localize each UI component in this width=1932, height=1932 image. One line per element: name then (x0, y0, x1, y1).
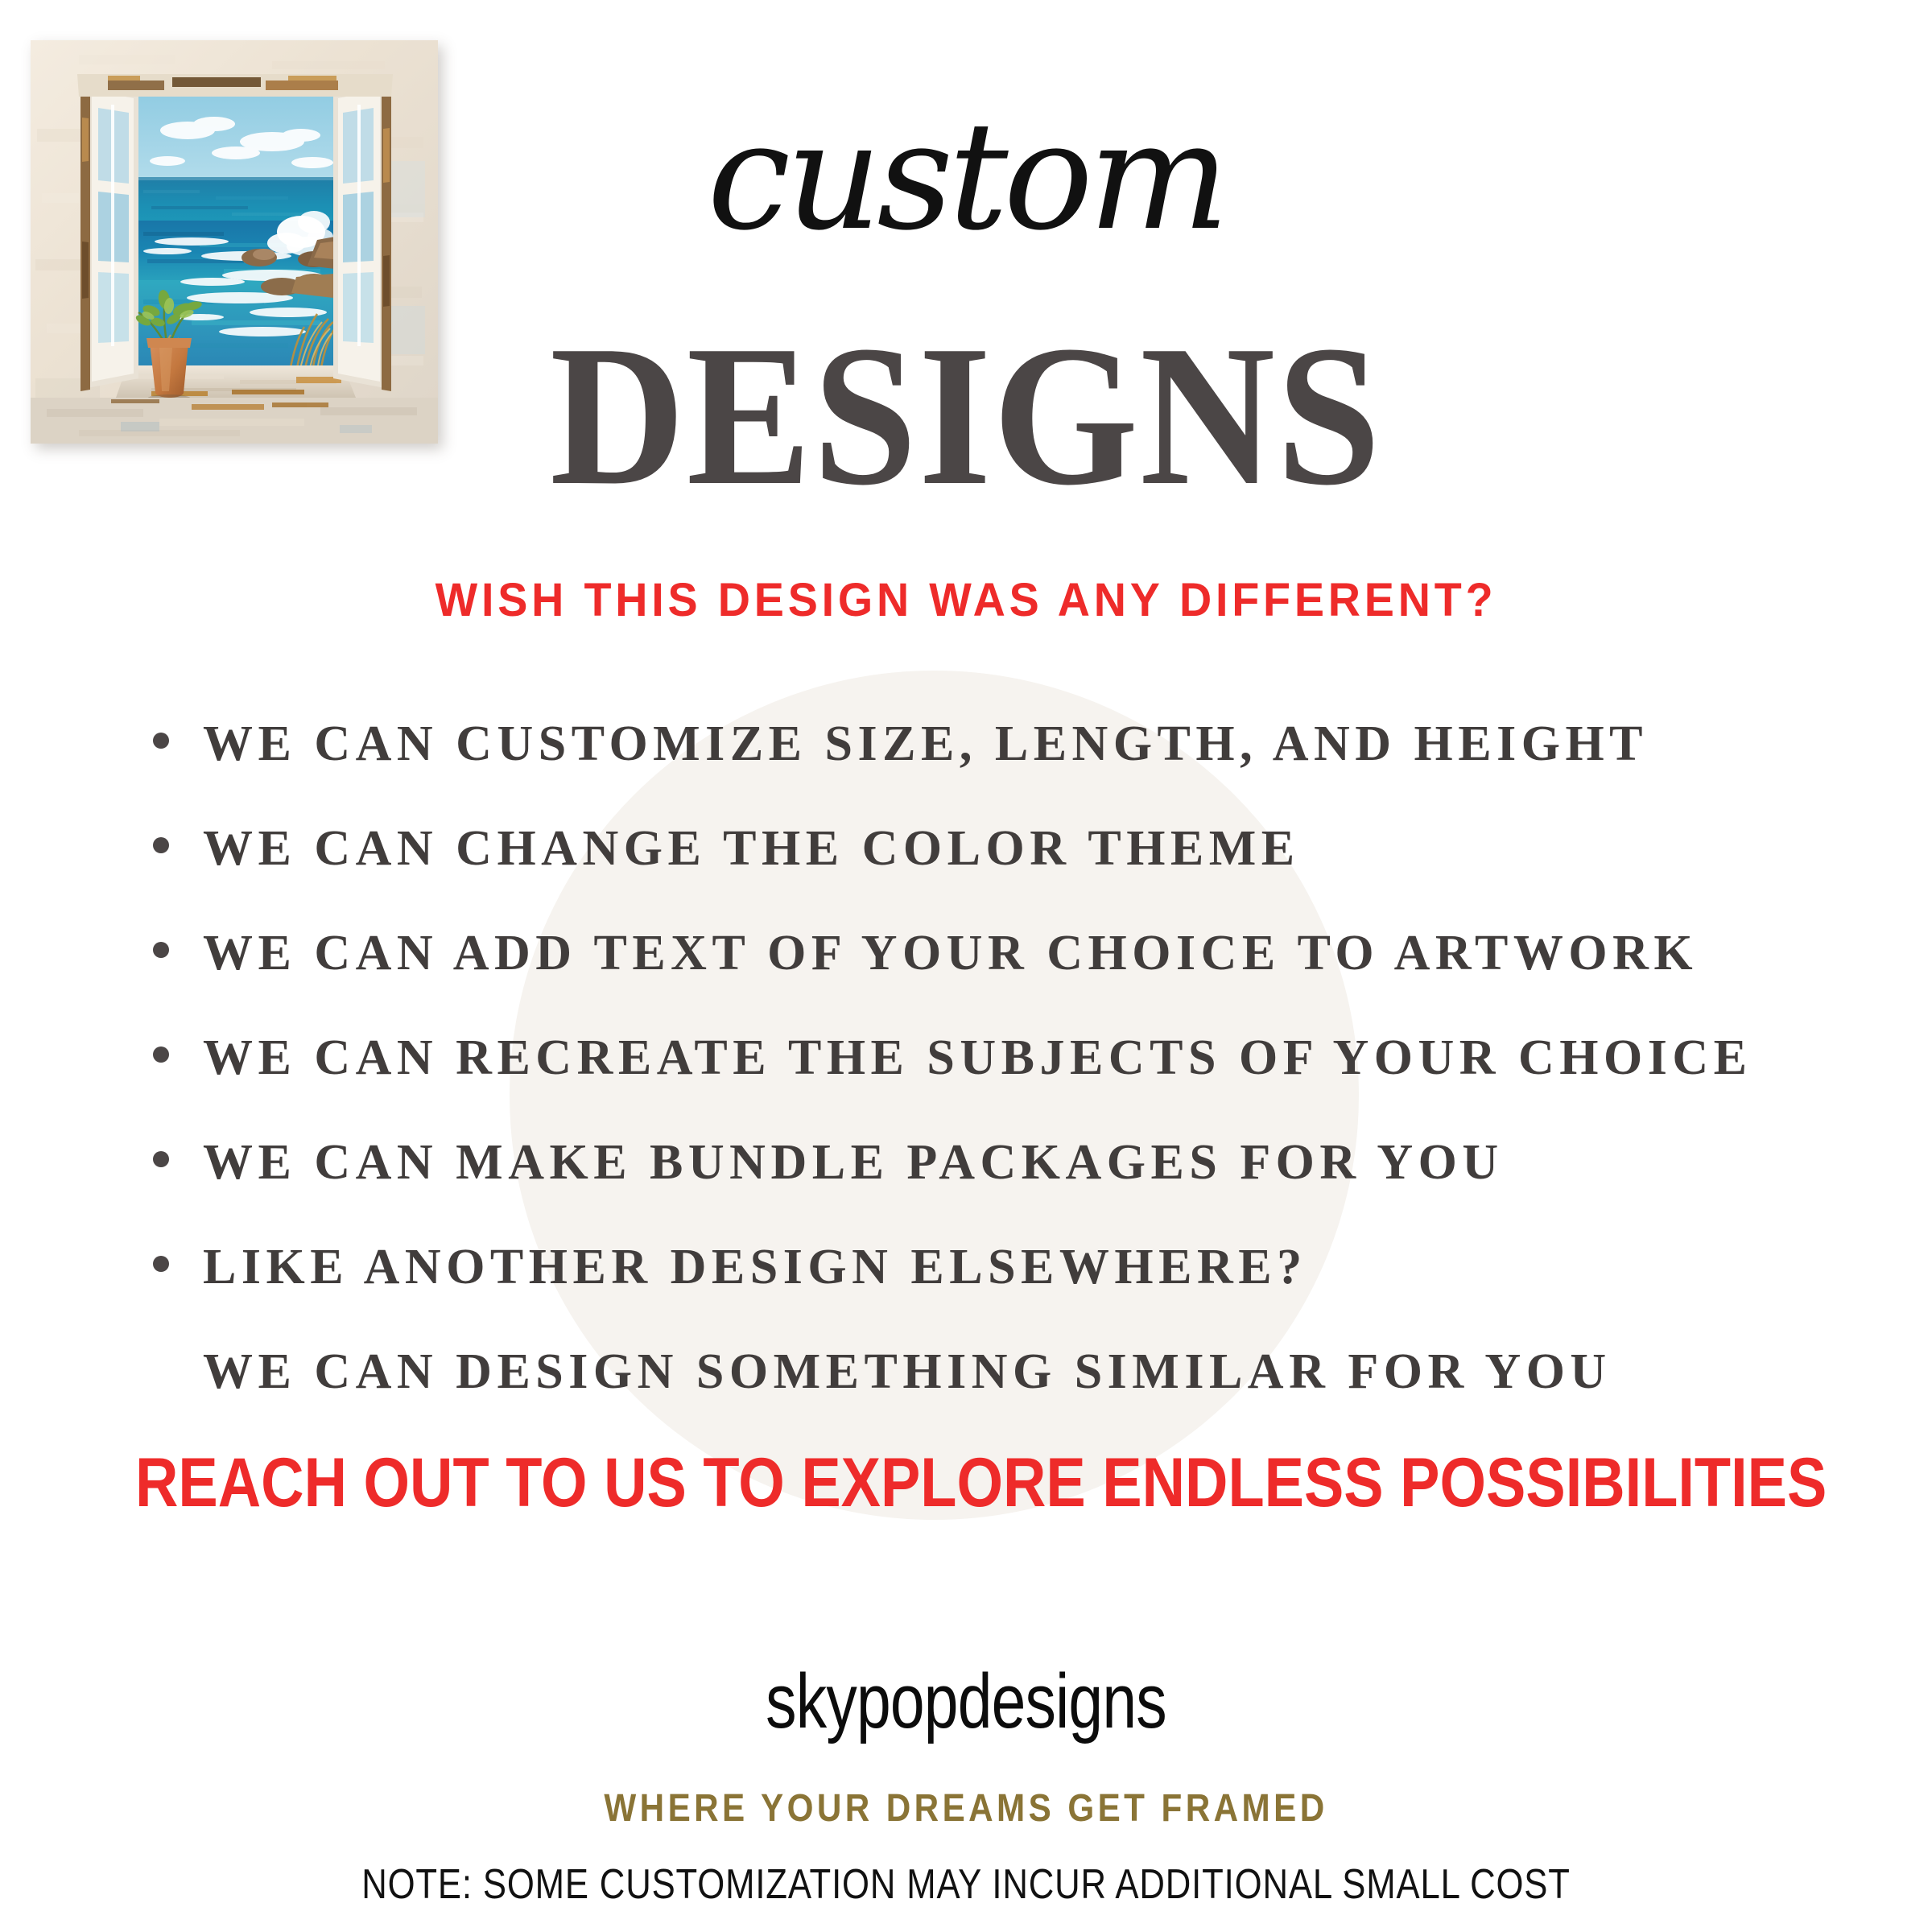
bullet-label: WE CAN CHANGE THE COLOR THEME (203, 819, 1300, 877)
bullet-dot-icon (153, 1256, 169, 1272)
list-item: WE CAN MAKE BUNDLE PACKAGES FOR YOU (153, 1133, 1843, 1222)
list-item: WE CAN CUSTOMIZE SIZE, LENGTH, AND HEIGH… (153, 715, 1843, 803)
bullet-label: WE CAN MAKE BUNDLE PACKAGES FOR YOU (203, 1133, 1504, 1191)
bullet-dot-icon (153, 1046, 169, 1063)
bullet-label: WE CAN ADD TEXT OF YOUR CHOICE TO ARTWOR… (203, 924, 1698, 982)
poster-canvas: custom DESIGNS WISH THIS DESIGN WAS ANY … (0, 0, 1932, 1932)
bullet-dot-icon (153, 1151, 169, 1167)
footer-note: NOTE: SOME CUSTOMIZATION MAY INCUR ADDIT… (155, 1861, 1777, 1908)
bullet-dot-icon (153, 837, 169, 853)
subtitle-question: WISH THIS DESIGN WAS ANY DIFFERENT? (39, 576, 1893, 625)
brand-name: skypopdesigns (193, 1660, 1739, 1744)
feature-bullet-list: WE CAN CUSTOMIZE SIZE, LENGTH, AND HEIGH… (153, 715, 1843, 1431)
bullet-label: LIKE ANOTHER DESIGN ELSEWHERE? (203, 1238, 1307, 1296)
custom-script-lettering: custom (660, 87, 1272, 280)
brand-tagline: WHERE YOUR DREAMS GET FRAMED (116, 1787, 1816, 1831)
bullet-dot-icon (153, 733, 169, 749)
bullet-label: WE CAN CUSTOMIZE SIZE, LENGTH, AND HEIGH… (203, 715, 1648, 773)
bullet-continuation-label: WE CAN DESIGN SOMETHING SIMILAR FOR YOU (203, 1343, 1612, 1401)
coastal-window-painting-icon (31, 40, 438, 444)
list-item: WE CAN ADD TEXT OF YOUR CHOICE TO ARTWOR… (153, 924, 1843, 1013)
list-item: WE CAN RECREATE THE SUBJECTS OF YOUR CHO… (153, 1029, 1843, 1117)
custom-script-text: custom (708, 89, 1225, 263)
list-item: LIKE ANOTHER DESIGN ELSEWHERE? (153, 1238, 1843, 1327)
list-item-continuation: WE CAN DESIGN SOMETHING SIMILAR FOR YOU (153, 1343, 1843, 1431)
list-item: WE CAN CHANGE THE COLOR THEME (153, 819, 1843, 908)
artwork-thumbnail[interactable] (31, 40, 438, 444)
bullet-dot-icon (153, 942, 169, 958)
bullet-label: WE CAN RECREATE THE SUBJECTS OF YOUR CHO… (203, 1029, 1752, 1087)
call-to-action-text: REACH OUT TO US TO EXPLORE ENDLESS POSSI… (135, 1446, 1797, 1520)
